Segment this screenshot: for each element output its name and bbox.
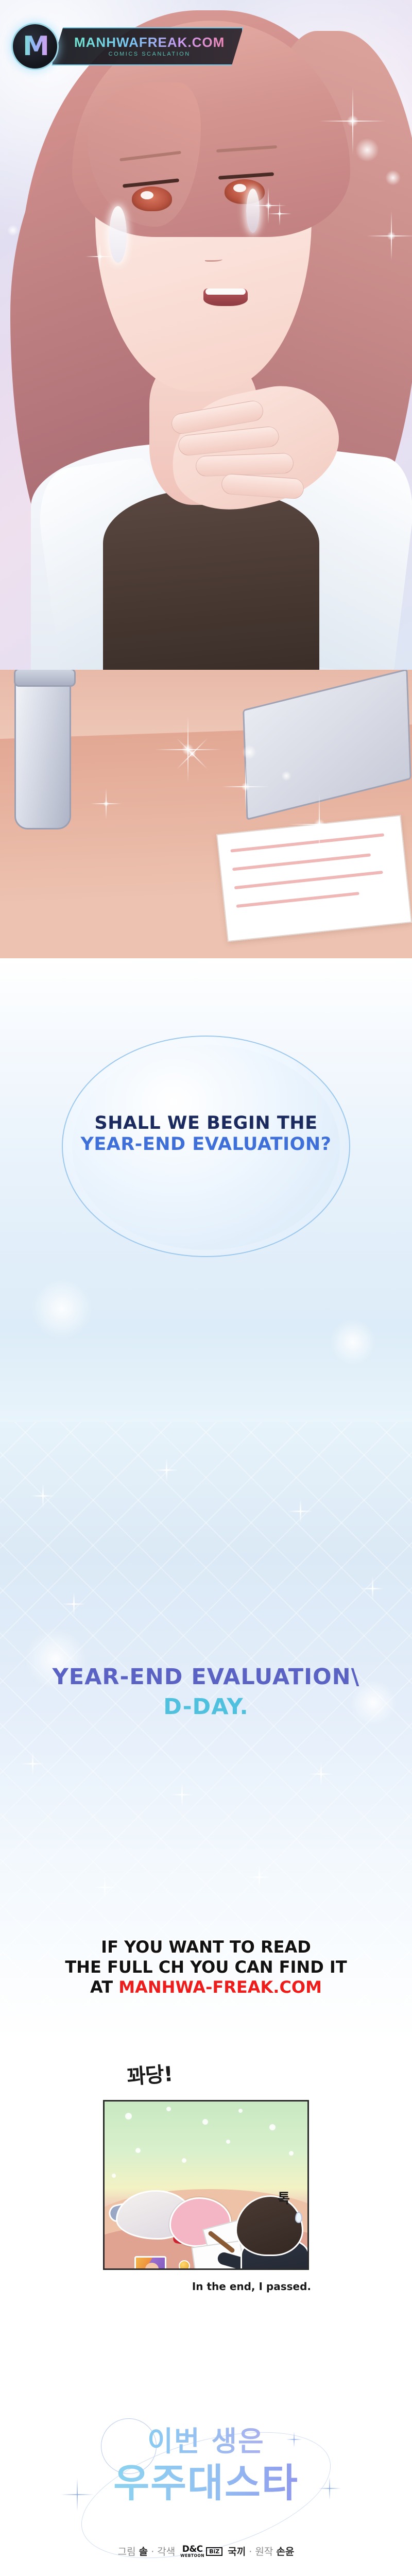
credit-name-original: 손윤 [276,2546,294,2557]
bokeh-dot [269,2124,276,2130]
episode-title-line-2: D-DAY. [0,1694,412,1720]
eye-left [132,187,172,211]
credit-label-adapt: 각색 [157,2546,175,2557]
frost-star-icon [21,1752,44,1775]
frost-star-icon [288,1499,312,1523]
credit-label-original: 원작 [255,2546,273,2557]
sweat-drop-icon [295,2212,302,2223]
document-sheet [216,815,412,942]
sfx-tap-text-1: 톡 [278,2188,290,2207]
promo-line-3: AT MANHWA-FREAK.COM [0,1977,412,1997]
document-line [230,833,384,852]
scanlation-watermark[interactable]: M MANHWAFREAK.COM COMICS SCANLATION [11,23,243,70]
dnc-webtoon-text: WEBTOON [180,2554,204,2558]
credits-main-row: 그림 솔 · 각색 D&CWEBTOON BiZ 국끼 · 원작 손윤 [0,2544,412,2558]
bokeh-dot [226,2140,230,2144]
speech-bubble-panel: SHALL WE BEGIN THE YEAR-END EVALUATION? [0,958,412,1422]
frost-star-icon [247,1865,271,1889]
dnc-biz-text: BiZ [206,2547,222,2556]
sfx-impact-text: 꽈당! [126,2057,174,2090]
desk-scene-panel [0,670,412,958]
credit-separator-1: · [151,2546,157,2557]
series-logo-credits-panel: 이번 생은 우주대스타 그림 솔 · 각색 D&CWEBTOON BiZ 국끼 … [0,2411,412,2576]
earring-left [109,206,127,263]
manhwafreak-logo-icon: M [11,23,59,70]
promo-message: IF YOU WANT TO READ THE FULL CH YOU CAN … [0,1937,412,1997]
watermark-banner: MANHWAFREAK.COM COMICS SCANLATION [51,27,243,65]
logo-letter: M [23,33,47,60]
tumbler-cup [14,675,71,829]
mouth [203,289,248,306]
speech-line-2: YEAR-END EVALUATION? [72,1134,340,1155]
watermark-site: MANHWAFREAK.COM [74,36,225,49]
bokeh-dot [202,2119,208,2125]
dark-top-garment [103,489,319,670]
credit-name-adapt: 국끼 [228,2546,246,2557]
speech-line-1: SHALL WE BEGIN THE [72,1113,340,1134]
credit-separator-2: · [249,2546,255,2557]
document-line [236,892,359,908]
document-line [232,853,371,871]
speech-bubble-text: SHALL WE BEGIN THE YEAR-END EVALUATION? [72,1113,340,1156]
bokeh-dot [31,1278,93,1340]
frost-star-icon [93,1875,116,1899]
document-line [234,871,383,889]
epilogue-caption: In the end, I passed. [0,2280,412,2293]
snack-bag [134,2256,166,2270]
dnc-dc-text: D&CWEBTOON [180,2545,204,2558]
promo-at: AT [90,1977,118,1997]
earring-right [246,189,260,233]
dnc-webtoon-biz-mark: D&CWEBTOON BiZ [180,2545,222,2558]
frost-star-icon [31,1484,55,1507]
chibi-epilogue-panel: 꽈당! [0,2040,412,2411]
bokeh-dot [166,2107,171,2111]
promo-line-1: IF YOU WANT TO READ [0,1937,412,1957]
frost-star-icon [309,1762,333,1786]
hero-illustration-panel: M MANHWAFREAK.COM COMICS SCANLATION [0,0,412,670]
credit-label-art: 그림 [118,2546,136,2557]
frost-star-icon [154,1458,178,1482]
bokeh-dot [289,2151,294,2156]
chibi-comic-frame: 톡 톡 [103,2100,309,2270]
bokeh-dot [238,2109,243,2113]
bokeh-dot [330,1319,376,1365]
frost-star-icon [360,1577,384,1600]
frost-star-icon [170,1783,194,1806]
series-title-line-2: 우주대스타 [0,2451,412,2508]
gumball-candy [179,2260,190,2270]
bokeh-dot [182,2158,186,2163]
promo-line-2: THE FULL CH YOU CAN FIND IT [0,1957,412,1977]
bokeh-dot [112,2174,116,2178]
finger-3 [195,453,294,477]
watermark-tagline: COMICS SCANLATION [109,51,191,57]
frost-star-icon [62,1592,85,1616]
episode-title-line-1: YEAR-END EVALUATION\ [0,1664,412,1690]
bokeh-dot [125,2113,132,2120]
webtoon-episode-page: M MANHWAFREAK.COM COMICS SCANLATION [0,0,412,2576]
character-artwork [0,0,412,670]
promo-site-link[interactable]: MANHWA-FREAK.COM [118,1977,322,1997]
bokeh-dot [135,2148,141,2153]
credit-name-art: 솔 [139,2546,148,2557]
title-card-panel: YEAR-END EVALUATION\ D-DAY. IF YOU WANT … [0,1422,412,2040]
